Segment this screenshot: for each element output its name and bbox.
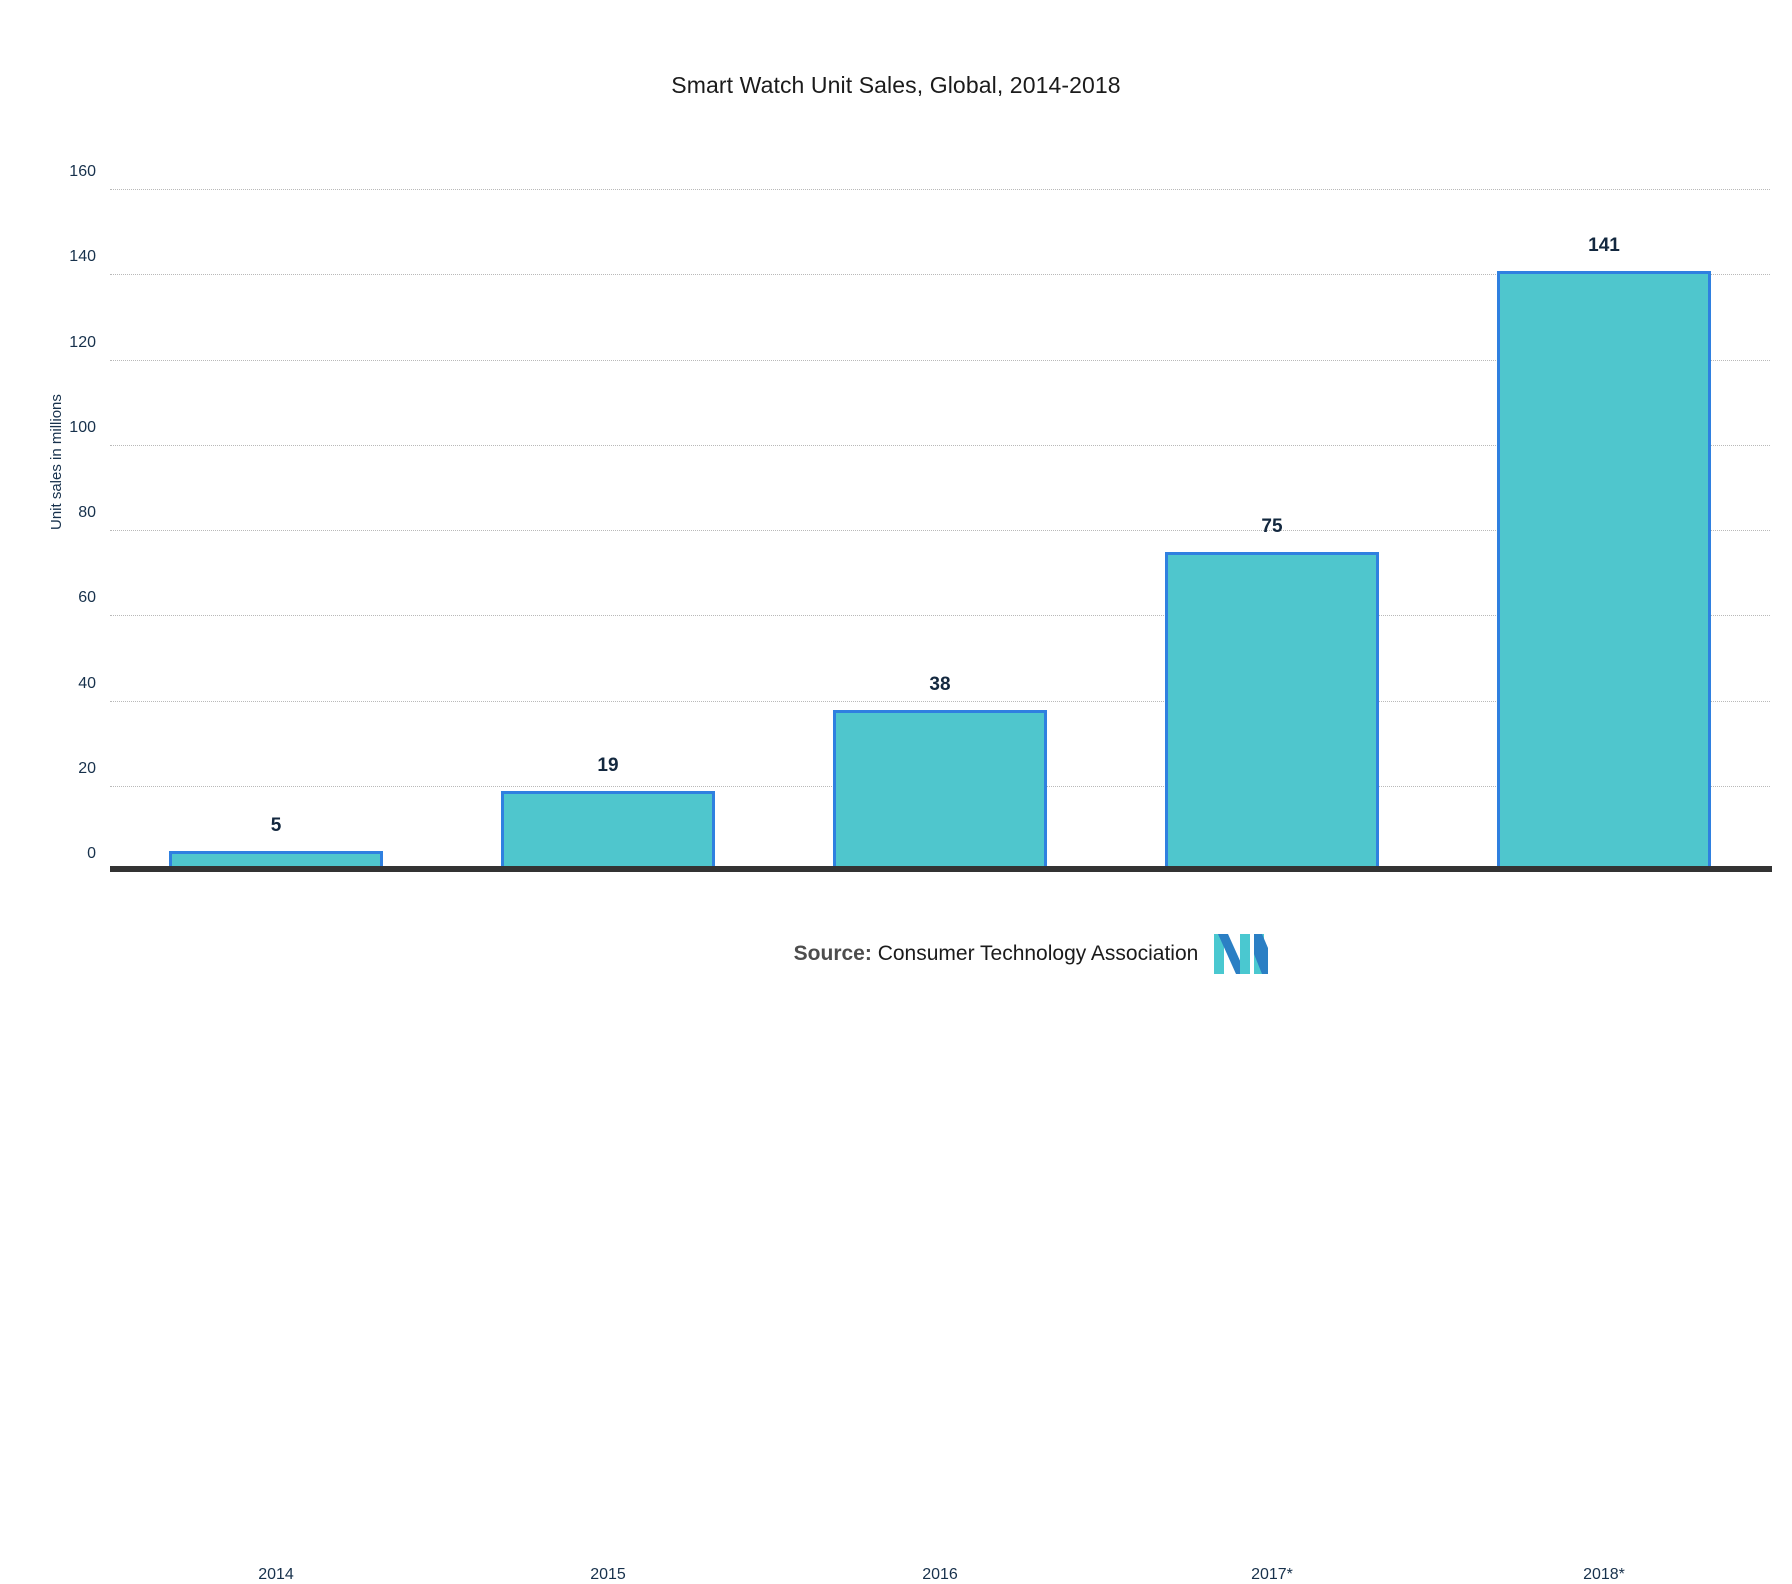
x-axis-line [110, 866, 1772, 872]
source-row: Source: Consumer Technology Association [0, 934, 1792, 974]
y-axis-tick-label: 160 [69, 163, 96, 181]
bar[interactable] [501, 791, 715, 872]
gridline [110, 189, 1770, 190]
bar[interactable] [1497, 271, 1711, 872]
y-axis-tick-label: 140 [69, 248, 96, 266]
bar-value-label: 141 [1497, 235, 1711, 257]
bar[interactable] [833, 710, 1047, 872]
bar-value-label: 5 [169, 815, 383, 837]
source-name: Consumer Technology Association [878, 942, 1199, 965]
y-axis-tick-label: 80 [78, 504, 96, 522]
chart-container: Smart Watch Unit Sales, Global, 2014-201… [0, 0, 1792, 1045]
bar[interactable] [1165, 552, 1379, 872]
bar-value-label: 19 [501, 755, 715, 777]
x-axis-tick-label: 2017* [1165, 1566, 1379, 1584]
y-axis-title: Unit sales in millions [48, 394, 65, 530]
bar-value-label: 75 [1165, 516, 1379, 538]
y-axis-tick-label: 100 [69, 419, 96, 437]
x-axis-tick-label: 2018* [1497, 1566, 1711, 1584]
x-axis-tick-label: 2015 [501, 1566, 715, 1584]
source-text: Source: Consumer Technology Association [794, 942, 1199, 966]
source-label: Source: [794, 942, 872, 965]
mordor-intelligence-logo-icon [1214, 934, 1268, 974]
y-axis-tick-label: 120 [69, 334, 96, 352]
y-axis-tick-label: 0 [87, 845, 96, 863]
chart-title: Smart Watch Unit Sales, Global, 2014-201… [0, 72, 1792, 99]
y-axis-tick-label: 60 [78, 589, 96, 607]
bar-value-label: 38 [833, 674, 1047, 696]
y-axis-tick-label: 40 [78, 675, 96, 693]
x-axis-tick-label: 2014 [169, 1566, 383, 1584]
y-axis-tick-label: 20 [78, 760, 96, 778]
x-axis-tick-label: 2016 [833, 1566, 1047, 1584]
plot-area: 020406080100120140160 520141920153820167… [110, 190, 1770, 872]
